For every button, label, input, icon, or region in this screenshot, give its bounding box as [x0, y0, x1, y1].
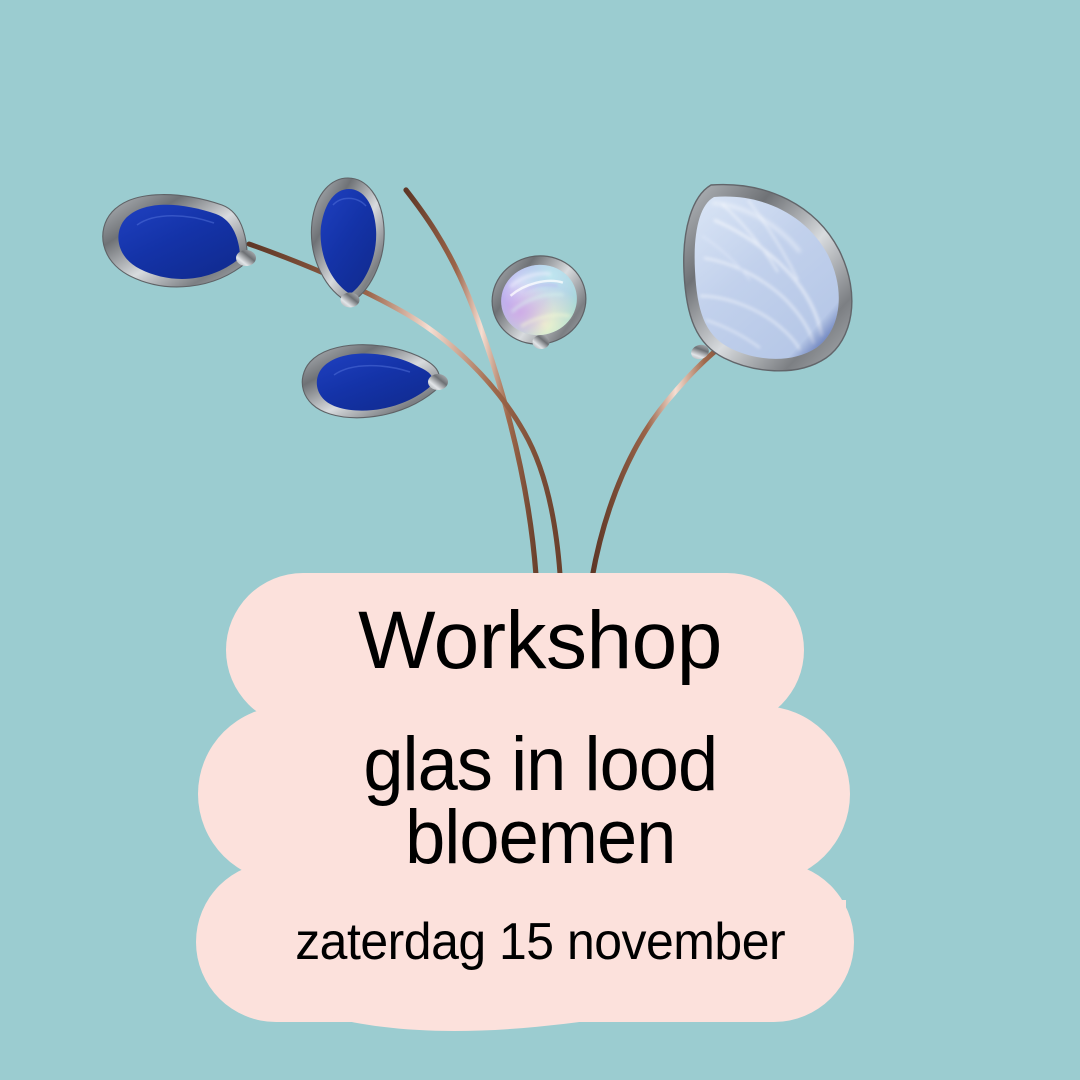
blue-petal-upper-left	[103, 195, 256, 287]
poster-date: zaterdag 15 november	[295, 916, 785, 968]
poster-subtitle-line-2: bloemen	[363, 802, 717, 874]
poster-subtitle: glas in lood bloemen	[354, 729, 727, 873]
blue-petal-lower-left	[302, 345, 448, 418]
blue-petal-upper-center	[311, 178, 384, 308]
poster-canvas: Workshop glas in lood bloemen zaterdag 1…	[0, 0, 1080, 1080]
pale-blue-large-petal	[684, 185, 852, 371]
poster-text-block: Workshop glas in lood bloemen zaterdag 1…	[0, 573, 1080, 1023]
poster-title: Workshop	[358, 601, 722, 681]
iridescent-round-flower	[484, 247, 594, 353]
poster-subtitle-line-1: glas in lood	[363, 729, 717, 801]
